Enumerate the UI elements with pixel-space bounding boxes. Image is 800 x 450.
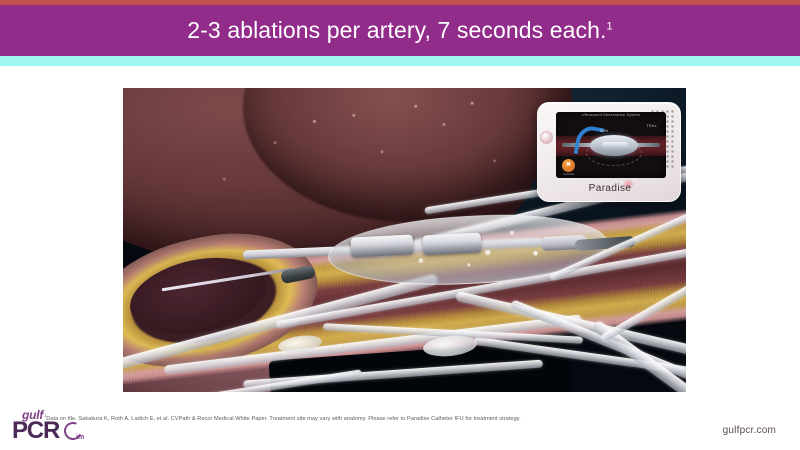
- cyan-divider-bar: [0, 56, 800, 66]
- console-knob[interactable]: [540, 131, 553, 144]
- console-brand-label: Paradise: [538, 183, 682, 194]
- paradise-generator-console: Ultrasound Denervation System 50% 7Sec ✖…: [537, 102, 681, 202]
- console-screen: Ultrasound Denervation System 50% 7Sec ✖…: [556, 112, 666, 178]
- title-band: 2-3 ablations per artery, 7 seconds each…: [0, 5, 800, 56]
- console-cancel-label: CANCEL: [558, 172, 580, 176]
- logo-pcr-text: PCR: [12, 419, 59, 443]
- footnote-text: Data on file. Sakakura K, Roth A, Ladich…: [46, 416, 521, 422]
- footnote-reference: 1Data on file. Sakakura K, Roth A, Ladic…: [44, 414, 644, 423]
- console-percent-label: 50%: [600, 128, 608, 133]
- console-timer-readout: 7Sec: [646, 120, 657, 129]
- medical-illustration: Ultrasound Denervation System 50% 7Sec ✖…: [123, 88, 686, 392]
- ultrasound-transducer: [351, 234, 414, 257]
- page-title: 2-3 ablations per artery, 7 seconds each…: [187, 19, 612, 42]
- console-timer-unit: Sec: [649, 124, 657, 128]
- page-title-superscript: 1: [606, 20, 612, 32]
- page-title-text: 2-3 ablations per artery, 7 seconds each…: [187, 17, 606, 43]
- ultrasound-transducer: [423, 232, 482, 255]
- console-screen-header: Ultrasound Denervation System: [556, 113, 666, 117]
- logo-im-text: im: [76, 434, 84, 441]
- website-label: gulfpcr.com: [723, 425, 776, 436]
- console-transducer-graphic: [602, 142, 628, 149]
- slide-root: 2-3 ablations per artery, 7 seconds each…: [0, 0, 800, 450]
- console-cancel-icon[interactable]: ✖: [562, 159, 575, 172]
